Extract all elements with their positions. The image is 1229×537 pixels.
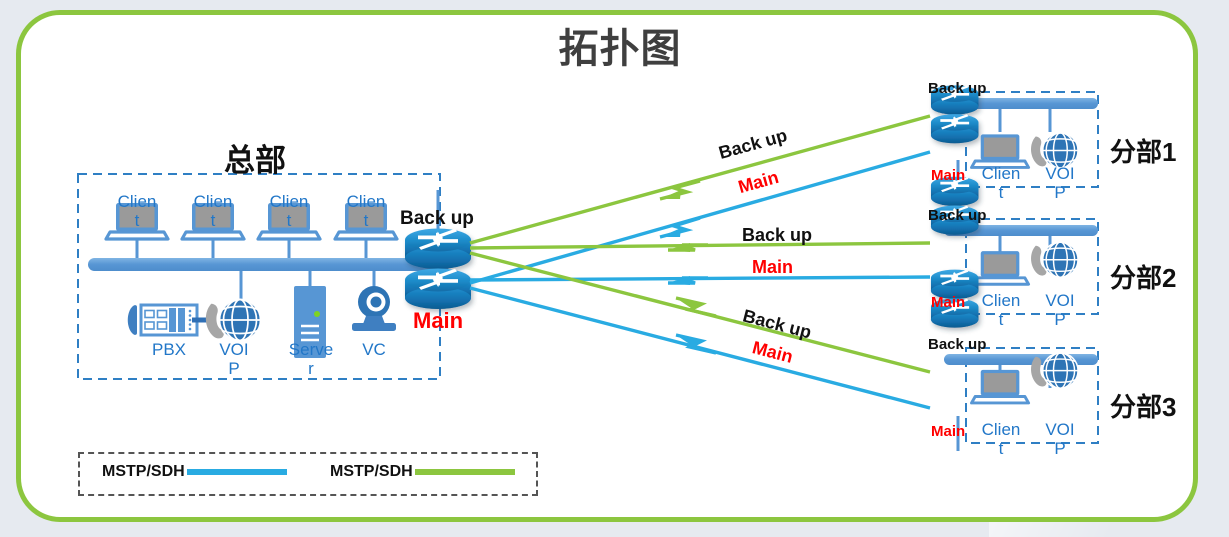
branch3-client-label-cont: t bbox=[976, 439, 1026, 458]
hq-vc-label: VC bbox=[346, 340, 402, 359]
branch3-voip-label-cont: P bbox=[1035, 439, 1085, 458]
topology-diagram-canvas: 拓扑图 总部 Clien t Clien t Clien t Clien t P… bbox=[0, 0, 1229, 537]
legend-label-backup: MSTP/SDH bbox=[330, 463, 413, 481]
branch1-client-icon bbox=[972, 134, 1029, 167]
hq-backup-label: Back up bbox=[400, 208, 474, 230]
branch2-voip-label: VOI bbox=[1035, 291, 1085, 310]
hq-client-1-label-cont: t bbox=[107, 211, 167, 230]
hq-server-label-cont: r bbox=[281, 359, 341, 378]
link-backup-branch2 bbox=[470, 243, 930, 252]
legend-swatch-backup bbox=[415, 469, 515, 475]
legend-item-main: MSTP/SDH bbox=[102, 463, 287, 481]
hq-vc-icon bbox=[352, 286, 396, 331]
branch3-backup-label: Back up bbox=[928, 336, 986, 353]
link-backup-branch3 bbox=[470, 253, 930, 372]
branch3-main-label: Main bbox=[931, 423, 965, 440]
branch1-title: 分部1 bbox=[1110, 132, 1176, 169]
branch2-client-icon bbox=[972, 251, 1029, 284]
branch2-main-label: Main bbox=[931, 294, 965, 311]
legend-item-backup: MSTP/SDH bbox=[330, 463, 515, 481]
legend-swatch-main bbox=[187, 469, 287, 475]
branch2-client-label: Clien bbox=[976, 291, 1026, 310]
page-title: 拓扑图 bbox=[500, 16, 740, 74]
hq-pbx-label: PBX bbox=[141, 340, 197, 359]
hq-client-3-label: Clien bbox=[259, 192, 319, 211]
hq-client-4-label-cont: t bbox=[336, 211, 396, 230]
link2-backup-label: Back up bbox=[742, 225, 812, 246]
link2-main-label: Main bbox=[752, 257, 793, 278]
hq-client-1-label: Clien bbox=[107, 192, 167, 211]
branch2-voip-label-cont: P bbox=[1035, 310, 1085, 329]
branch1-main-label: Main bbox=[931, 167, 965, 184]
hq-router-backup bbox=[405, 229, 471, 270]
branch2-voip-icon bbox=[1031, 242, 1078, 277]
branch3-voip-icon bbox=[1031, 353, 1078, 388]
hq-client-4-label: Clien bbox=[336, 192, 396, 211]
branch1-backup-label: Back up bbox=[928, 80, 986, 97]
hq-client-3-label-cont: t bbox=[259, 211, 319, 230]
branch1-voip-icon bbox=[1031, 133, 1078, 168]
hq-voip-icon bbox=[206, 300, 261, 341]
legend: MSTP/SDH MSTP/SDH bbox=[78, 452, 538, 496]
branch2-title: 分部2 bbox=[1110, 258, 1176, 295]
hq-title: 总部 bbox=[175, 135, 335, 180]
link-main-branch1 bbox=[470, 152, 930, 283]
hq-voip-label-cont: P bbox=[206, 359, 262, 378]
branch3-title: 分部3 bbox=[1110, 387, 1176, 424]
branch3-voip-label: VOI bbox=[1035, 420, 1085, 439]
link-backup-branch1 bbox=[470, 116, 930, 243]
branch2-client-label-cont: t bbox=[976, 310, 1026, 329]
hq-voip-label: VOI bbox=[206, 340, 262, 359]
hq-client-2-label: Clien bbox=[183, 192, 243, 211]
hq-router-main bbox=[405, 269, 471, 310]
branch1-client-label-cont: t bbox=[976, 183, 1026, 202]
hq-server-label: Serve bbox=[281, 340, 341, 359]
hq-main-label: Main bbox=[413, 308, 463, 334]
branch1-router-main bbox=[931, 114, 979, 143]
legend-label-main: MSTP/SDH bbox=[102, 463, 185, 481]
hq-pbx-icon bbox=[128, 305, 197, 335]
branch1-client-label: Clien bbox=[976, 164, 1026, 183]
hq-client-2-label-cont: t bbox=[183, 211, 243, 230]
branch3-client-label: Clien bbox=[976, 420, 1026, 439]
branch1-voip-label-cont: P bbox=[1035, 183, 1085, 202]
branch3-client-icon bbox=[972, 370, 1029, 403]
branch1-voip-label: VOI bbox=[1035, 164, 1085, 183]
branch2-backup-label: Back up bbox=[928, 207, 986, 224]
link-main-branch2 bbox=[470, 276, 930, 285]
